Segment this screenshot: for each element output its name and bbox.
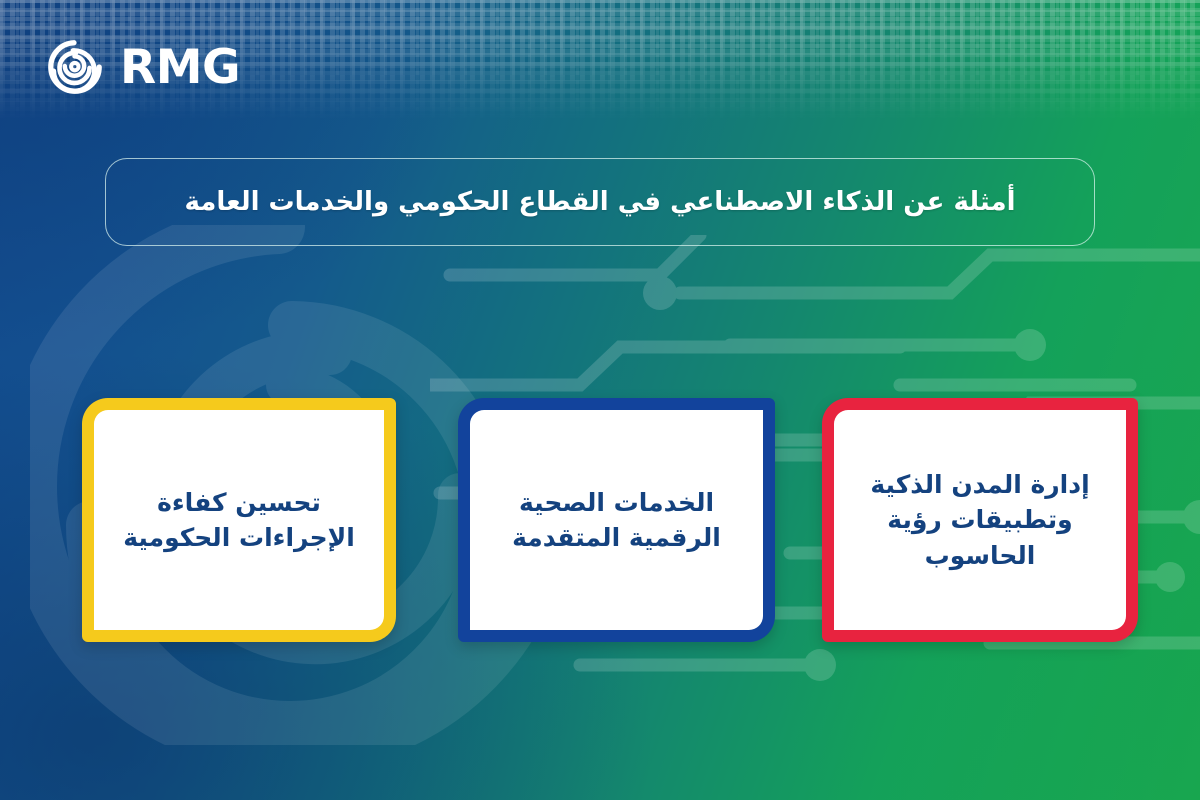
card-efficiency[interactable]: تحسين كفاءة الإجراءات الحكومية [82,398,396,642]
cards-row: تحسين كفاءة الإجراءات الحكومية الخدمات ا… [0,398,1200,642]
infographic-poster: RMG أمثلة عن الذكاء الاصطناعي في القطاع … [0,0,1200,800]
title-banner: أمثلة عن الذكاء الاصطناعي في القطاع الحك… [105,158,1095,246]
card-health-label: الخدمات الصحية الرقمية المتقدمة [488,485,745,556]
page-title: أمثلة عن الذكاء الاصطناعي في القطاع الحك… [185,185,1016,219]
card-smart-cities-label: إدارة المدن الذكية وتطبيقات رؤية الحاسوب [852,467,1108,574]
card-efficiency-label: تحسين كفاءة الإجراءات الحكومية [112,485,366,556]
card-health[interactable]: الخدمات الصحية الرقمية المتقدمة [458,398,775,642]
brand-name: RMG [120,44,240,91]
brand-header: RMG [44,33,1200,101]
rmg-spiral-logo-icon[interactable] [44,36,106,98]
card-smart-cities[interactable]: إدارة المدن الذكية وتطبيقات رؤية الحاسوب [822,398,1138,642]
